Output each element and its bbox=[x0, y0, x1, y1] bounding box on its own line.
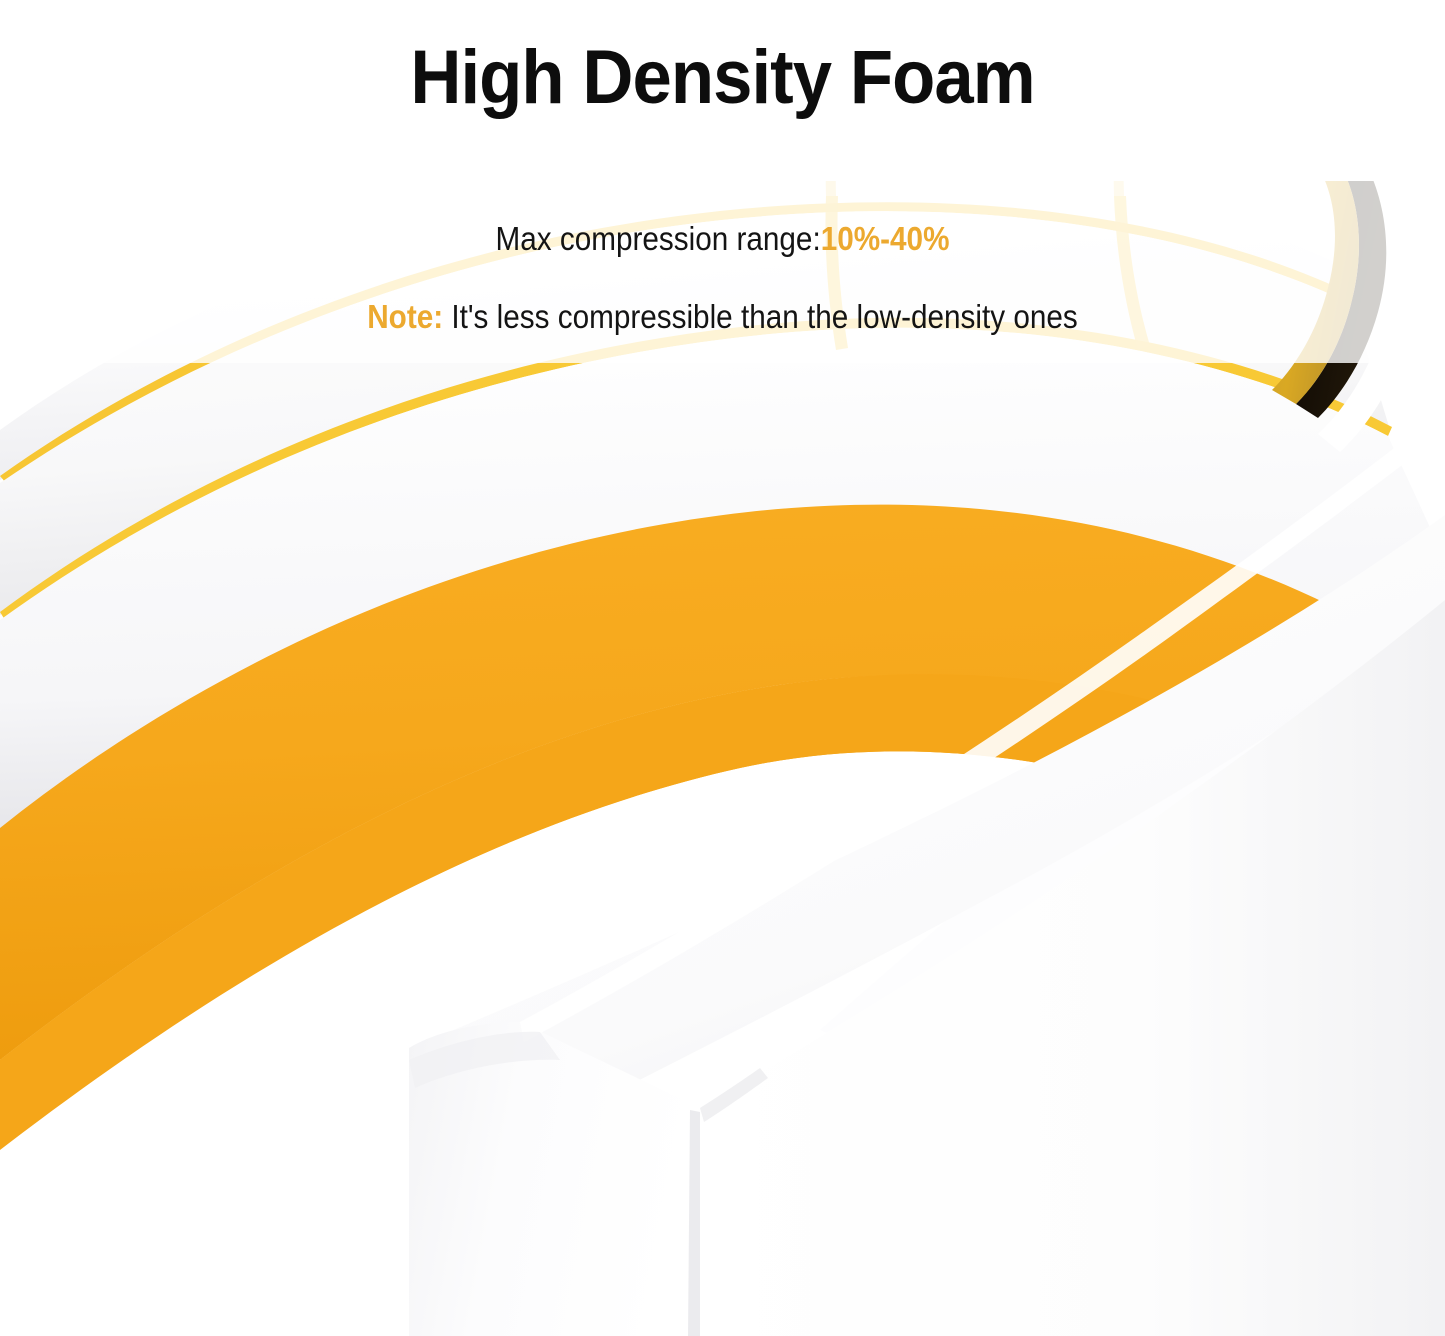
foam-product-photo bbox=[0, 0, 1445, 1336]
product-image-canvas: High Density Foam Max compression range:… bbox=[0, 0, 1445, 1336]
foam-strip-end-crease bbox=[688, 1110, 700, 1336]
